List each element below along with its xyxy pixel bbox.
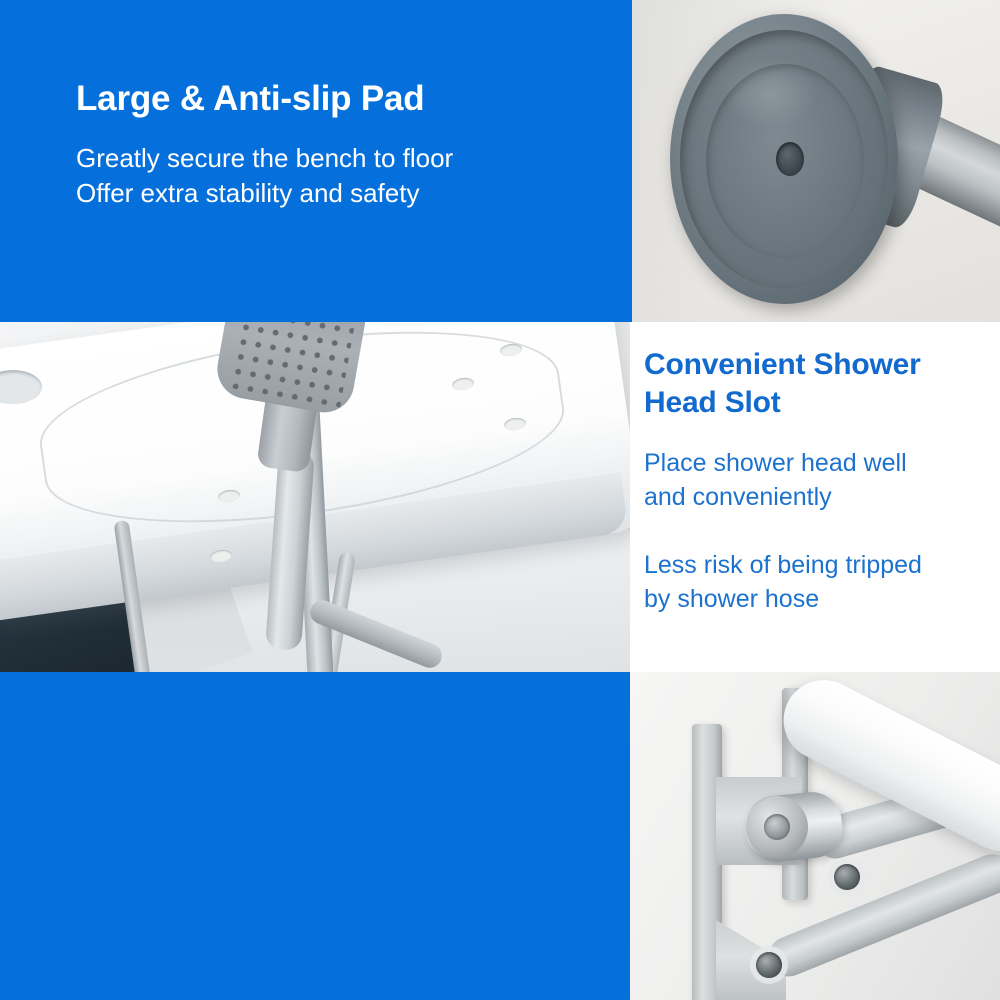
- shower-head-slot-body-group-1: Place shower head well and conveniently: [644, 446, 994, 514]
- bench-shower-head-slot-photo: [0, 322, 630, 672]
- shower-head-slot-body-group-2: Less risk of being tripped by shower hos…: [644, 548, 994, 616]
- rubber-pad-highlight: [722, 58, 818, 128]
- product-feature-infographic: Large & Anti-slip Pad Greatly secure the…: [0, 0, 1000, 1000]
- anti-slip-pad-body-group: Greatly secure the bench to floor Offer …: [76, 141, 453, 211]
- rubber-pad-outer-rim: [670, 14, 898, 304]
- bracket-bolt: [834, 864, 860, 890]
- rubber-pad-rim: [680, 30, 888, 288]
- anti-slip-pad-body-line-1: Greatly secure the bench to floor: [76, 141, 453, 176]
- shower-head-slot-body-line-4: by shower hose: [644, 582, 994, 616]
- anti-slip-pad-body-line-2: Offer extra stability and safety: [76, 176, 453, 211]
- rubber-anti-slip-foot-photo: [632, 0, 1000, 322]
- shower-head-slot-body-line-1: Place shower head well: [644, 446, 994, 480]
- feature-panel-easy-folding: Easy Folding up Shaft rotation Hassle-fr…: [0, 672, 630, 1000]
- folding-wall-bracket-photo: [630, 672, 1000, 1000]
- rubber-pad-center-hole: [776, 142, 804, 176]
- pivot-shaft-bolt: [764, 814, 790, 840]
- shower-head-slot-text-block: Convenient Shower Head Slot Place shower…: [644, 346, 994, 616]
- bracket-bolt: [756, 952, 782, 978]
- anti-slip-pad-heading: Large & Anti-slip Pad: [76, 78, 453, 120]
- shower-head-slot-heading: Convenient Shower Head Slot: [644, 346, 994, 422]
- shower-head-slot-body-line-2: and conveniently: [644, 480, 994, 514]
- shower-head-slot-body-line-3: Less risk of being tripped: [644, 548, 994, 582]
- anti-slip-pad-text-block: Large & Anti-slip Pad Greatly secure the…: [76, 78, 453, 211]
- feature-panel-shower-head-slot: Convenient Shower Head Slot Place shower…: [630, 322, 1000, 668]
- feature-panel-anti-slip-pad: Large & Anti-slip Pad Greatly secure the…: [0, 0, 632, 322]
